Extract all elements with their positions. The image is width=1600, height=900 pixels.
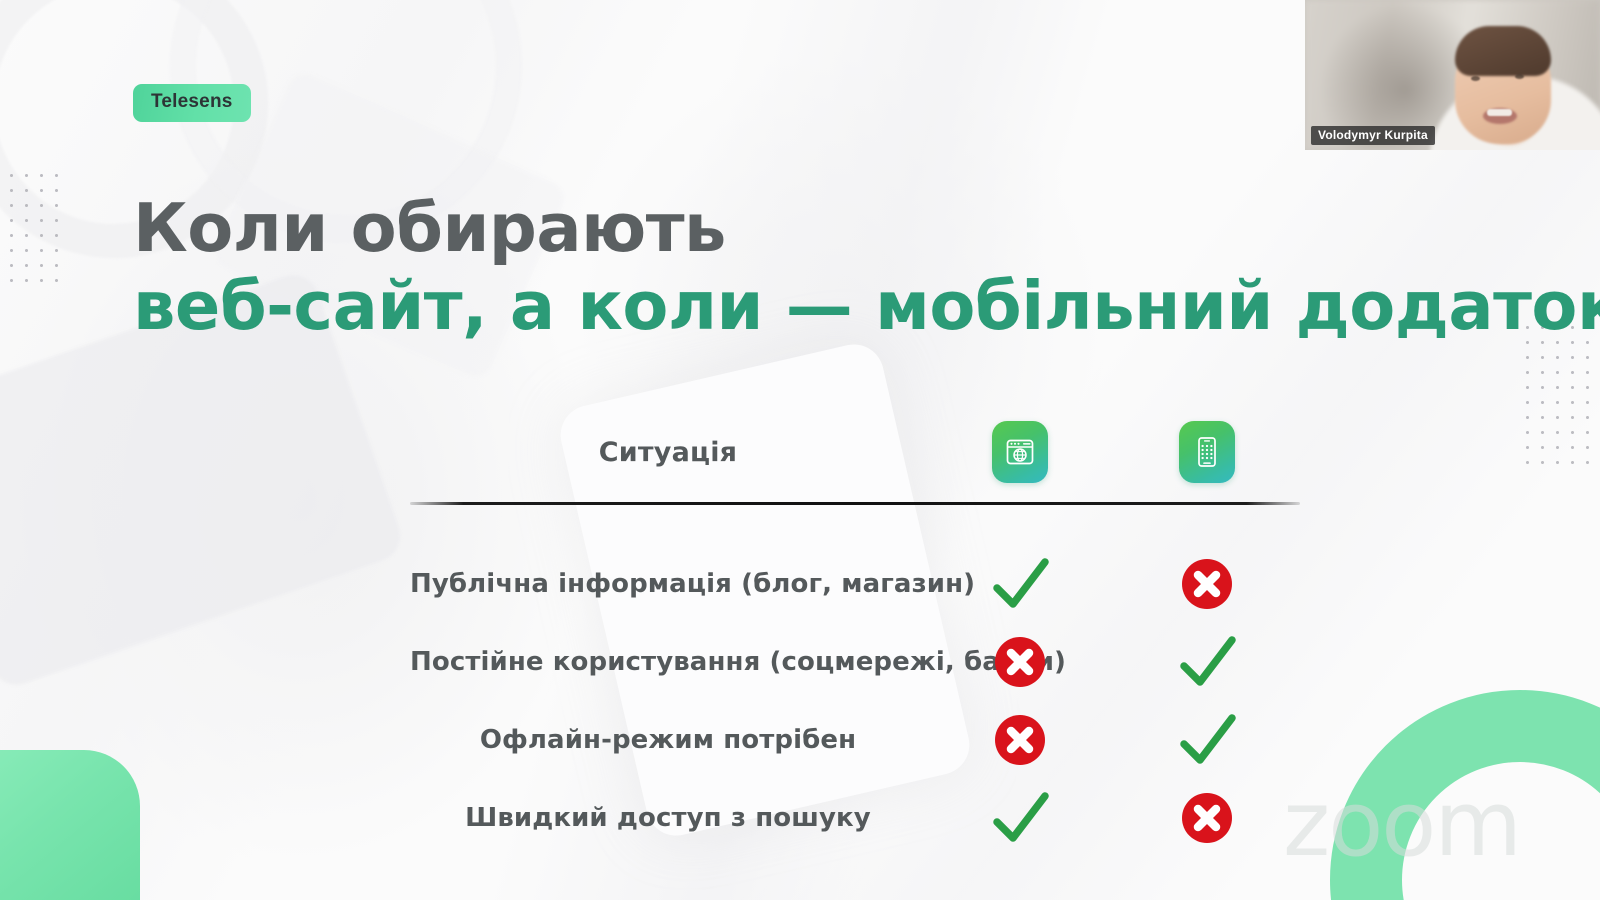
row-label: Офлайн-режим потрібен [410, 725, 926, 755]
table-row: Публічна інформація (блог, магазин) [410, 545, 1300, 623]
cross-circle-icon [992, 712, 1048, 768]
situation-header-label: Ситуація [599, 437, 737, 468]
presentation-slide: zoom Telesens Коли обирають веб-сайт, а … [0, 0, 1600, 900]
row-mobile-cell [1113, 556, 1300, 612]
webcam-hair [1455, 26, 1551, 76]
row-web-cell [926, 790, 1113, 846]
cross-circle-icon [1179, 556, 1235, 612]
row-mobile-cell [1113, 790, 1300, 846]
table-header-row: Ситуація [410, 404, 1300, 500]
webcam-tile[interactable]: Volodymyr Kurpita [1305, 0, 1600, 150]
situation-header-cell: Ситуація [410, 437, 926, 468]
page-title: Коли обирають веб-сайт, а коли — мобільн… [133, 192, 1600, 343]
dot-grid-left [4, 168, 64, 290]
webcam-teeth [1487, 109, 1512, 116]
row-mobile-cell [1113, 634, 1300, 690]
check-icon [989, 556, 1051, 612]
cross-circle-icon [1179, 790, 1235, 846]
mobile-column-header [1113, 421, 1300, 483]
title-line-1: Коли обирають [133, 192, 1600, 264]
check-icon [1176, 634, 1238, 690]
table-row: Постійне користування (соцмережі, банки) [410, 623, 1300, 701]
table-row: Офлайн-режим потрібен [410, 701, 1300, 779]
table-row: Швидкий доступ з пошуку [410, 779, 1300, 857]
mobile-app-icon [1179, 421, 1235, 483]
check-icon [989, 790, 1051, 846]
green-rounded-block-decor [0, 750, 140, 900]
row-web-cell [926, 634, 1113, 690]
participant-name-label: Volodymyr Kurpita [1311, 126, 1435, 145]
browser-globe-icon [992, 421, 1048, 483]
row-label: Публічна інформація (блог, магазин) [410, 569, 926, 599]
title-line-2: веб-сайт, а коли — мобільний додаток [133, 270, 1600, 342]
row-label: Постійне користування (соцмережі, банки) [410, 647, 926, 677]
webcam-eye-left [1471, 76, 1480, 81]
row-web-cell [926, 712, 1113, 768]
row-web-cell [926, 556, 1113, 612]
webcam-eye-right [1515, 74, 1524, 79]
zoom-watermark: zoom [1283, 780, 1520, 870]
check-icon [1176, 712, 1238, 768]
row-mobile-cell [1113, 712, 1300, 768]
row-label: Швидкий доступ з пошуку [410, 803, 926, 833]
web-column-header [926, 421, 1113, 483]
cross-circle-icon [992, 634, 1048, 690]
table-header-divider [410, 502, 1300, 505]
table-body: Публічна інформація (блог, магазин) Пост… [410, 545, 1300, 857]
comparison-table: Ситуація [410, 404, 1300, 857]
brand-badge: Telesens [133, 84, 251, 122]
